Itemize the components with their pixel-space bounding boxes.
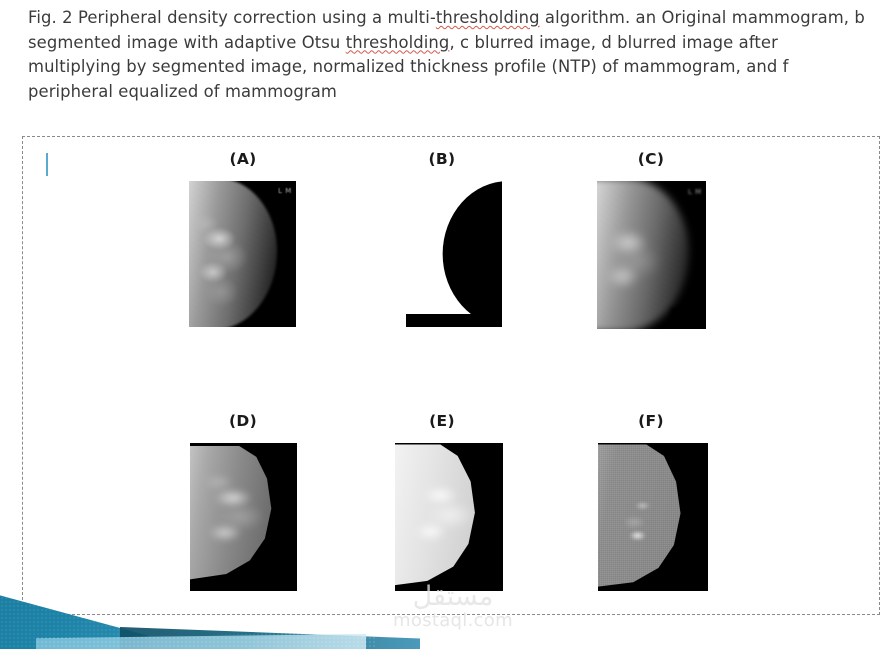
panel-a-view-marker: L M — [278, 187, 292, 195]
panel-d-image[interactable] — [190, 443, 297, 591]
panel-b-image[interactable] — [396, 181, 502, 327]
panel-a-label: (A) — [183, 150, 303, 168]
panel-b-mask-bottom-bar — [406, 314, 502, 327]
panel-d-label: (D) — [183, 412, 303, 430]
panel-c-label: (C) — [591, 150, 711, 168]
caption-misspelled-word-1: thresholding — [436, 8, 540, 27]
figure-caption: Fig. 2 Peripheral density correction usi… — [28, 6, 866, 104]
panel-b-label: (B) — [382, 150, 502, 168]
panel-e-label: (E) — [382, 412, 502, 430]
panel-f-label: (F) — [591, 412, 711, 430]
caption-misspelled-word-2: thresholding — [346, 33, 450, 52]
panel-c-view-marker: L M — [688, 188, 702, 196]
panel-a-black-patch — [262, 307, 294, 323]
panel-c-image[interactable]: L M — [597, 181, 706, 329]
panel-e-image[interactable] — [395, 443, 503, 591]
panel-a-image[interactable]: L M — [189, 181, 296, 327]
panel-f-image[interactable] — [598, 443, 708, 591]
caption-part-1: Fig. 2 Peripheral density correction usi… — [28, 8, 436, 27]
panel-c-black-patch — [671, 308, 704, 324]
figure-panel-grid: (A) L M (B) (C) — [0, 150, 888, 649]
